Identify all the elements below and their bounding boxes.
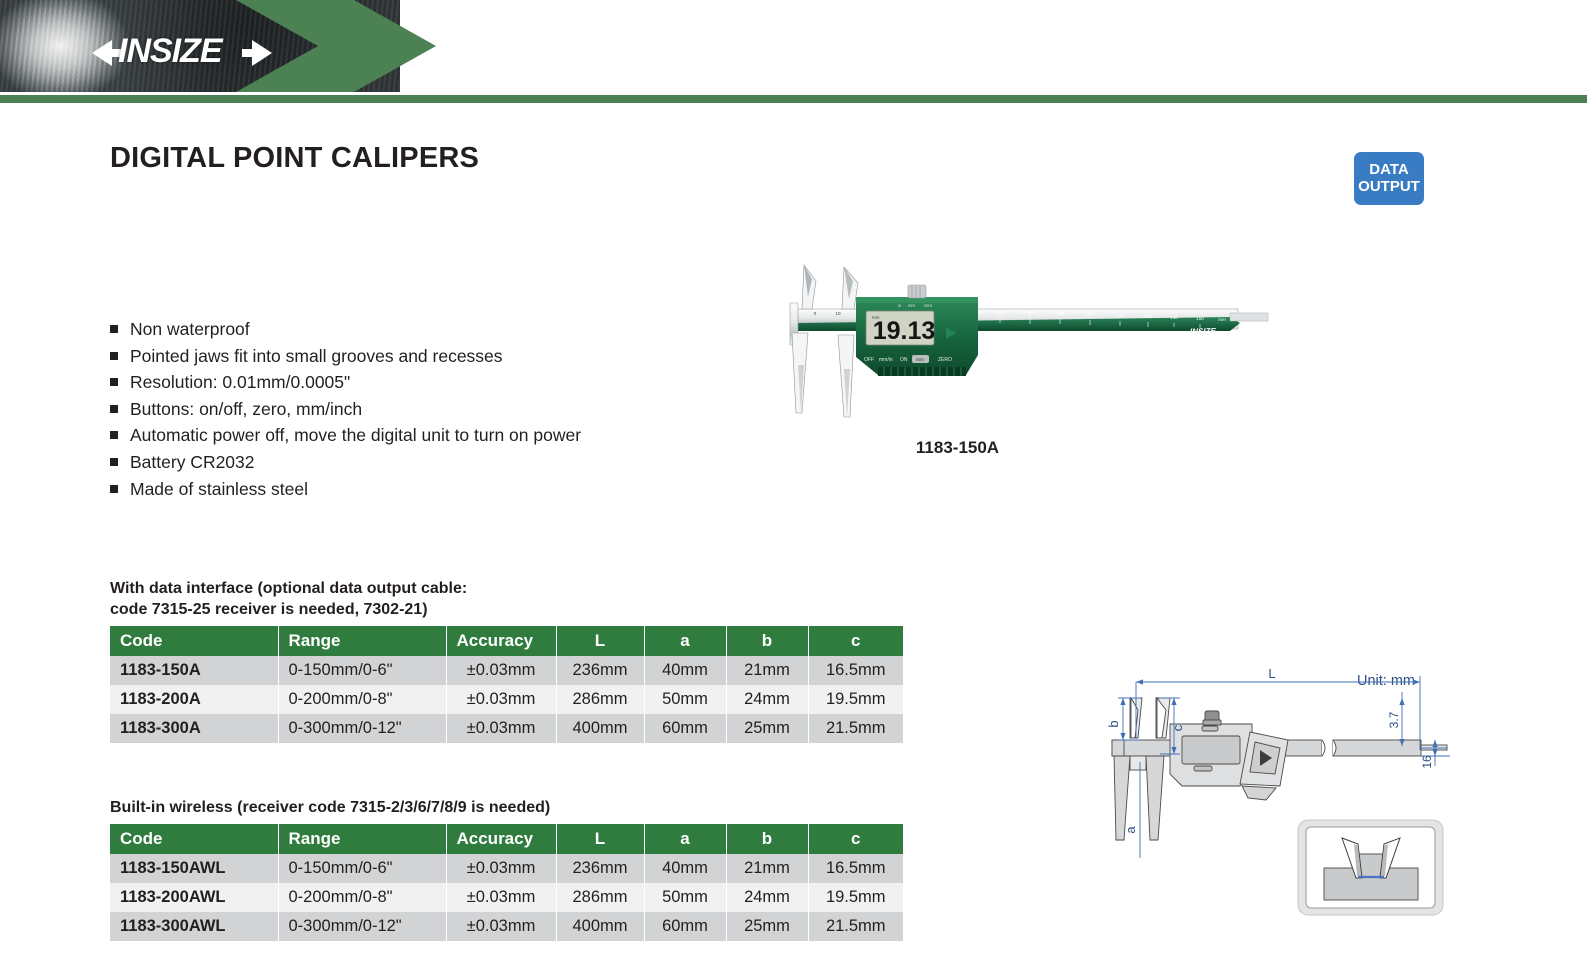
col-header-accuracy: Accuracy xyxy=(446,824,556,854)
col-header-code: Code xyxy=(110,626,278,656)
cell-b: 25mm xyxy=(726,714,808,743)
dim-label-b: b xyxy=(1106,720,1121,727)
list-item: Buttons: on/off, zero, mm/inch xyxy=(110,398,581,421)
col-header-range: Range xyxy=(278,626,446,656)
col-header-l: L xyxy=(556,626,644,656)
dim-label-16: 16 xyxy=(1420,755,1434,769)
cell-c: 16.5mm xyxy=(808,854,903,883)
list-item: Pointed jaws fit into small grooves and … xyxy=(110,345,581,368)
cell-a: 50mm xyxy=(644,883,726,912)
cell-c: 19.5mm xyxy=(808,883,903,912)
dim-label-c: c xyxy=(1170,724,1185,731)
cell-l: 400mm xyxy=(556,714,644,743)
cell-code: 1183-300AWL xyxy=(110,912,278,941)
insize-logo: INSIZE xyxy=(92,32,272,76)
svg-text:ZERO: ZERO xyxy=(938,357,952,363)
cell-code: 1183-150A xyxy=(110,656,278,685)
square-bullet-icon xyxy=(110,458,118,466)
cell-l: 236mm xyxy=(556,656,644,685)
cell-accuracy: ±0.03mm xyxy=(446,656,556,685)
cell-b: 24mm xyxy=(726,883,808,912)
cell-range: 0-300mm/0-12" xyxy=(278,714,446,743)
cell-c: 21.5mm xyxy=(808,912,903,941)
page-header: INSIZE xyxy=(0,0,1587,103)
lcd-reading: 19.13 xyxy=(873,317,936,345)
col-header-b: b xyxy=(726,626,808,656)
table-row: 1183-200AWL 0-200mm/0-8" ±0.03mm 286mm 5… xyxy=(110,883,903,912)
svg-text:150: 150 xyxy=(1196,316,1204,321)
cell-code: 1183-200AWL xyxy=(110,883,278,912)
svg-text:100: 100 xyxy=(1056,311,1064,316)
spec-table-builtin-wireless: Code Range Accuracy L a b c 1183-150AWL … xyxy=(110,824,903,941)
svg-text:10: 10 xyxy=(835,311,841,316)
dim-label-37: 3.7 xyxy=(1387,711,1401,728)
svg-text:mm: mm xyxy=(1218,317,1226,322)
col-header-a: a xyxy=(644,626,726,656)
caliper-illustration: 0 10 8090 100110 120130 140150 mm INSIZE xyxy=(760,245,1270,425)
badge-line-2: OUTPUT xyxy=(1358,179,1420,196)
list-item: Battery CR2032 xyxy=(110,451,581,474)
dim-label-L: L xyxy=(1268,666,1275,681)
col-header-accuracy: Accuracy xyxy=(446,626,556,656)
table-row: 1183-150A 0-150mm/0-6" ±0.03mm 236mm 40m… xyxy=(110,656,903,685)
svg-text:110: 110 xyxy=(1086,312,1094,317)
table-row: 1183-200A 0-200mm/0-8" ±0.03mm 286mm 50m… xyxy=(110,685,903,714)
table-header-row: Code Range Accuracy L a b c xyxy=(110,824,903,854)
cell-code: 1183-150AWL xyxy=(110,854,278,883)
col-header-b: b xyxy=(726,824,808,854)
square-bullet-icon xyxy=(110,352,118,360)
cell-accuracy: ±0.03mm xyxy=(446,883,556,912)
square-bullet-icon xyxy=(110,405,118,413)
list-item: Automatic power off, move the digital un… xyxy=(110,424,581,447)
cell-b: 21mm xyxy=(726,854,808,883)
square-bullet-icon xyxy=(110,325,118,333)
cell-c: 16.5mm xyxy=(808,656,903,685)
svg-text:mm: mm xyxy=(872,315,880,320)
table-header-row: Code Range Accuracy L a b c xyxy=(110,626,903,656)
col-header-l: L xyxy=(556,824,644,854)
logo-wordmark: INSIZE xyxy=(118,32,222,71)
badge-line-1: DATA xyxy=(1369,162,1408,179)
cell-a: 60mm xyxy=(644,714,726,743)
feature-text: Pointed jaws fit into small grooves and … xyxy=(130,345,503,368)
feature-list: Non waterproof Pointed jaws fit into sma… xyxy=(110,318,581,504)
cell-b: 25mm xyxy=(726,912,808,941)
col-header-c: c xyxy=(808,824,903,854)
dim-label-a: a xyxy=(1123,826,1138,834)
cell-code: 1183-200A xyxy=(110,685,278,714)
feature-text: Resolution: 0.01mm/0.0005" xyxy=(130,371,350,394)
page-title: DIGITAL POINT CALIPERS xyxy=(110,142,479,175)
square-bullet-icon xyxy=(110,378,118,386)
svg-text:140: 140 xyxy=(1170,315,1178,320)
feature-text: Non waterproof xyxy=(130,318,250,341)
table-row: 1183-300AWL 0-300mm/0-12" ±0.03mm 400mm … xyxy=(110,912,903,941)
svg-text:0: 0 xyxy=(814,311,817,316)
table-row: 1183-150AWL 0-150mm/0-6" ±0.03mm 236mm 4… xyxy=(110,854,903,883)
list-item: Non waterproof xyxy=(110,318,581,341)
table-caption: With data interface (optional data outpu… xyxy=(110,578,903,620)
cell-accuracy: ±0.03mm xyxy=(446,685,556,714)
svg-text:130: 130 xyxy=(1144,314,1152,319)
cell-range: 0-150mm/0-6" xyxy=(278,656,446,685)
cell-b: 24mm xyxy=(726,685,808,714)
cell-range: 0-200mm/0-8" xyxy=(278,685,446,714)
svg-text:80: 80 xyxy=(997,309,1003,314)
cell-range: 0-300mm/0-12" xyxy=(278,912,446,941)
col-header-c: c xyxy=(808,626,903,656)
cell-l: 400mm xyxy=(556,912,644,941)
cell-b: 21mm xyxy=(726,656,808,685)
logo-right-arrow-icon xyxy=(252,40,272,66)
cell-l: 286mm xyxy=(556,685,644,714)
table-block-data-interface: With data interface (optional data outpu… xyxy=(110,578,903,743)
dimension-diagram: L b c a 3.7 16 xyxy=(1090,662,1460,952)
svg-text:ON: ON xyxy=(900,357,908,363)
cell-code: 1183-300A xyxy=(110,714,278,743)
technical-drawing: L b c a 3.7 16 xyxy=(1090,662,1460,952)
square-bullet-icon xyxy=(110,431,118,439)
svg-text:mm/in: mm/in xyxy=(879,357,893,363)
product-caption: 1183-150A xyxy=(760,438,1155,458)
svg-text:zero: zero xyxy=(924,303,933,308)
feature-text: Battery CR2032 xyxy=(130,451,255,474)
cell-a: 50mm xyxy=(644,685,726,714)
col-header-code: Code xyxy=(110,824,278,854)
cell-c: 21.5mm xyxy=(808,714,903,743)
feature-text: Buttons: on/off, zero, mm/inch xyxy=(130,398,362,421)
cell-c: 19.5mm xyxy=(808,685,903,714)
cell-range: 0-200mm/0-8" xyxy=(278,883,446,912)
cell-l: 286mm xyxy=(556,883,644,912)
cell-a: 40mm xyxy=(644,854,726,883)
cell-range: 0-150mm/0-6" xyxy=(278,854,446,883)
cell-accuracy: ±0.03mm xyxy=(446,912,556,941)
svg-text:90: 90 xyxy=(1027,310,1033,315)
application-inset xyxy=(1298,820,1443,915)
spec-table-data-interface: Code Range Accuracy L a b c 1183-150A 0-… xyxy=(110,626,903,743)
cell-accuracy: ±0.03mm xyxy=(446,714,556,743)
square-bullet-icon xyxy=(110,485,118,493)
svg-text:mm: mm xyxy=(916,357,924,362)
product-photo: 0 10 8090 100110 120130 140150 mm INSIZE xyxy=(760,245,1270,425)
feature-text: Made of stainless steel xyxy=(130,478,308,501)
table-block-builtin-wireless: Built-in wireless (receiver code 7315-2/… xyxy=(110,797,903,941)
svg-text:120: 120 xyxy=(1116,313,1124,318)
table-caption: Built-in wireless (receiver code 7315-2/… xyxy=(110,797,903,818)
data-output-badge: DATA OUTPUT xyxy=(1354,152,1424,205)
cell-a: 60mm xyxy=(644,912,726,941)
feature-text: Automatic power off, move the digital un… xyxy=(130,424,581,447)
cell-a: 40mm xyxy=(644,656,726,685)
svg-text:INSIZE: INSIZE xyxy=(1190,327,1217,336)
list-item: Made of stainless steel xyxy=(110,478,581,501)
svg-text:mm: mm xyxy=(908,303,915,308)
col-header-range: Range xyxy=(278,824,446,854)
table-row: 1183-300A 0-300mm/0-12" ±0.03mm 400mm 60… xyxy=(110,714,903,743)
svg-text:OFF: OFF xyxy=(864,357,874,363)
list-item: Resolution: 0.01mm/0.0005" xyxy=(110,371,581,394)
col-header-a: a xyxy=(644,824,726,854)
cell-accuracy: ±0.03mm xyxy=(446,854,556,883)
header-green-rule xyxy=(0,95,1587,103)
cell-l: 236mm xyxy=(556,854,644,883)
